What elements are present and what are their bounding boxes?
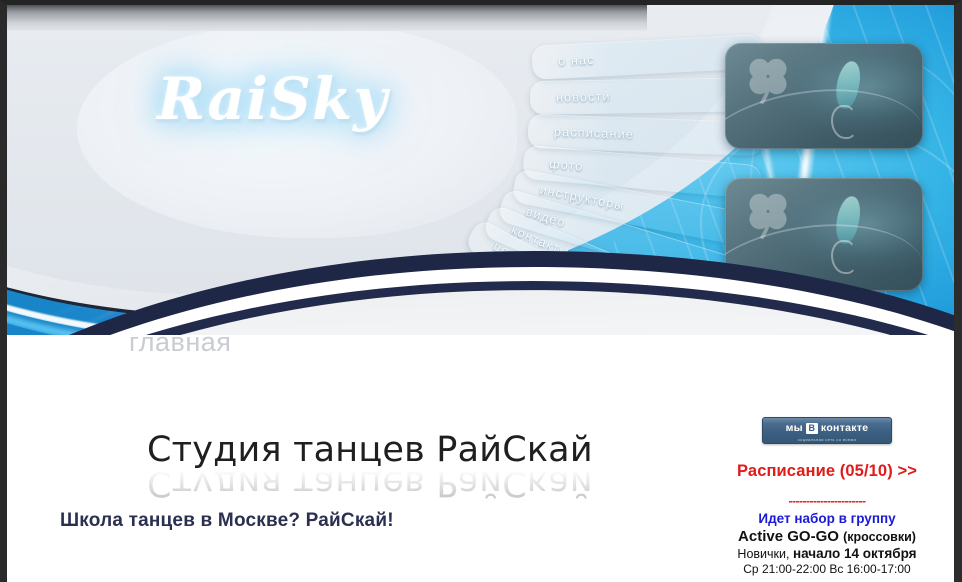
header-banner: RaiSky о нас новости расписание фото инс… <box>7 5 954 335</box>
vk-badge-row: мы В контакте <box>763 422 891 434</box>
vk-badge-subtitle: социальная сеть со всеми <box>763 437 891 442</box>
thumb-swirl <box>831 240 857 274</box>
nav-label: о нас <box>558 53 595 69</box>
nav-label: фото <box>549 157 584 174</box>
page-title-reflection: Студия танцев РайСкай <box>147 463 593 503</box>
thumb-swirl <box>831 105 857 139</box>
enrollment-notice: Идет набор в группу <box>707 511 947 526</box>
start-prefix: Новички, <box>737 547 789 561</box>
vkontakte-badge[interactable]: мы В контакте социальная сеть со всеми <box>762 417 892 444</box>
class-times: Ср 21:00-22:00 Вс 16:00-17:00 <box>707 562 947 576</box>
start-date-line: Новички, начало 14 октября <box>707 546 947 561</box>
page-subtitle: Школа танцев в Москве? РайСкай! <box>60 510 394 532</box>
page-root: RaiSky о нас новости расписание фото инс… <box>0 0 962 582</box>
group-name: Active GO-GO <box>738 528 839 545</box>
group-name-line: Active GO-GO (кроссовки) <box>707 528 947 545</box>
promo-image-1[interactable] <box>725 43 923 149</box>
right-sidebar: мы В контакте социальная сеть со всеми Р… <box>707 417 947 576</box>
dashed-divider: ---------------------- <box>707 494 947 508</box>
start-date: начало 14 октября <box>793 546 917 561</box>
breadcrumb: главная <box>129 327 231 358</box>
nav-label: расписание <box>554 125 634 142</box>
vk-suffix-label: контакте <box>821 422 869 434</box>
schedule-link[interactable]: Расписание (05/10) >> <box>707 462 947 481</box>
group-note: (кроссовки) <box>843 530 916 544</box>
vk-logo-icon: В <box>806 423 818 434</box>
vk-prefix-label: мы <box>786 422 803 434</box>
nav-label: новости <box>556 90 611 105</box>
